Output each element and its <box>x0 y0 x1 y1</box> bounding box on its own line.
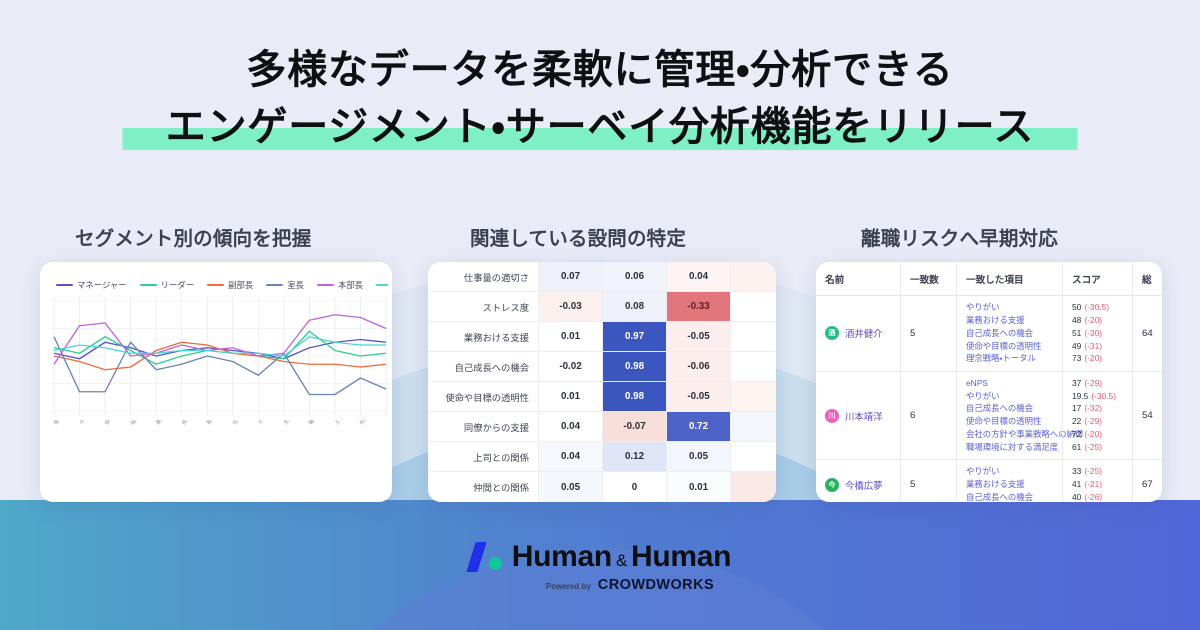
heatmap-grid: 仕事量の適切さ0.070.060.04ストレス度-0.030.08-0.33業務… <box>428 262 776 502</box>
score-entry: 49(-31) <box>1072 341 1123 352</box>
heatmap-cell[interactable]: 0.06 <box>602 262 666 292</box>
score-delta: (-30.5) <box>1091 391 1116 401</box>
heatmap-cell[interactable]: 0.01 <box>538 322 602 352</box>
heatmap-cell[interactable]: -0.06 <box>666 352 730 382</box>
heatmap-row: 使命や目標の透明性0.010.98-0.05 <box>428 382 776 412</box>
score-entry: 41(-21) <box>1072 479 1123 490</box>
chart-xlabel-7: 仕事量の適切さ (点・平均) <box>231 420 273 426</box>
powered-by-label: Powered by <box>546 582 591 591</box>
risk-cell-match-count: 6 <box>900 372 956 460</box>
line-chart: マネージャーリーダー副部長室長本部長部長 理念戦略・トータル (点・平均)やりが… <box>40 262 392 502</box>
chart-series-5 <box>54 337 386 356</box>
score-delta: (-30.5) <box>1084 302 1109 312</box>
logo-dot-shape <box>489 557 502 570</box>
heatmap-row-label: ストレス度 <box>428 292 538 322</box>
heatmap-cell[interactable]: 0.04 <box>538 412 602 442</box>
matched-item[interactable]: 自己成長への機会 <box>966 492 1053 502</box>
heatmap-cell-truncated[interactable] <box>730 262 776 292</box>
risk-table-body: 酒酒井健介5やりがい業務おける支援自己成長への機会使命や目標の透明性理念戦略・ト… <box>816 296 1162 502</box>
avatar: 今 <box>825 478 839 492</box>
matched-item[interactable]: 理念戦略・トータル <box>966 353 1053 364</box>
risk-cell-items: eNPSやりがい自己成長への機会使命や目標の透明性会社の方針や事業戦略への納得職… <box>956 372 1062 460</box>
chart-x-axis-labels: 理念戦略・トータル (点・平均)やりがい (点・平均)自己成長の機会 (点・平均… <box>50 420 382 478</box>
score-value: 49 <box>1072 341 1081 351</box>
score-entry: 33(-25) <box>1072 466 1123 477</box>
heatmap-row-label: 仲間との関係 <box>428 472 538 502</box>
matched-item[interactable]: やりがい <box>966 302 1053 313</box>
score-entry: 48(-20) <box>1072 315 1123 326</box>
legend-item-5[interactable]: 部長 <box>376 279 388 291</box>
title-line-2: エンゲージメント・サーベイ分析機能をリリース <box>0 99 1200 156</box>
heatmap-cell[interactable]: -0.07 <box>602 412 666 442</box>
heatmap-cell[interactable]: 0.05 <box>666 442 730 472</box>
title-line-2-text: エンゲージメント・サーベイ分析機能をリリース <box>166 105 1034 149</box>
heatmap-row: ストレス度-0.030.08-0.33 <box>428 292 776 322</box>
heatmap-cell[interactable]: 0.04 <box>666 262 730 292</box>
heatmap-row: 仕事量の適切さ0.070.060.04 <box>428 262 776 292</box>
risk-cell-items: やりがい業務おける支援自己成長への機会使命や目標の透明性理念戦略・トータル <box>956 296 1062 371</box>
avatar: 川 <box>825 409 839 423</box>
heatmap-cell-truncated[interactable] <box>730 292 776 322</box>
heatmap-row: 同僚からの支援0.04-0.070.72 <box>428 412 776 442</box>
risk-table-col-0: 名前 <box>816 262 900 295</box>
legend-label-4: 本部長 <box>338 279 363 291</box>
heatmap-cell-truncated[interactable] <box>730 442 776 472</box>
legend-swatch-2 <box>207 284 224 286</box>
heatmap-cell-truncated[interactable] <box>730 322 776 352</box>
heatmap-cell[interactable]: 0.97 <box>602 322 666 352</box>
risk-cell-match-count: 5 <box>900 296 956 371</box>
score-value: 72 <box>1072 429 1081 439</box>
heatmap-cell-truncated[interactable] <box>730 472 776 502</box>
score-entry: 22(-29) <box>1072 416 1123 427</box>
chart-plot-area <box>50 297 382 420</box>
risk-cell-name: 川川本靖洋 <box>816 372 900 460</box>
heatmap-cell-truncated[interactable] <box>730 352 776 382</box>
risk-cell-match-count: 5 <box>900 460 956 502</box>
score-entry: 50(-30.5) <box>1072 302 1123 313</box>
risk-table-col-4: 総 <box>1132 262 1162 295</box>
chart-series-4 <box>54 315 386 365</box>
legend-item-0[interactable]: マネージャー <box>56 279 127 291</box>
score-delta: (-26) <box>1084 492 1102 502</box>
heatmap-cell[interactable]: -0.02 <box>538 352 602 382</box>
legend-swatch-1 <box>140 284 157 286</box>
heatmap-cell[interactable]: 0.98 <box>602 382 666 412</box>
legend-label-3: 室長 <box>287 279 304 291</box>
logo-name-part1: Human <box>512 540 612 573</box>
logo-wordmark: Human&Human <box>512 540 731 574</box>
matched-item[interactable]: 職場環境に対する満足度 <box>966 442 1053 453</box>
risk-cell-scores: 37(-29)19.5(-30.5)17(-32)22(-29)72(-20)6… <box>1062 372 1132 460</box>
score-delta: (-29) <box>1084 378 1102 388</box>
risk-table-col-1: 一致数 <box>900 262 956 295</box>
score-entry: 51(-30) <box>1072 328 1123 339</box>
score-delta: (-31) <box>1084 341 1102 351</box>
heatmap-cell-truncated[interactable] <box>730 382 776 412</box>
legend-label-0: マネージャー <box>77 279 127 291</box>
score-value: 48 <box>1072 315 1081 325</box>
score-entry: 40(-26) <box>1072 492 1123 502</box>
logo-slash-dot-icon <box>469 542 503 572</box>
score-value: 40 <box>1072 492 1081 502</box>
score-value: 19.5 <box>1072 391 1088 401</box>
score-delta: (-30) <box>1084 328 1102 338</box>
heatmap-cell-truncated[interactable] <box>730 412 776 442</box>
card-correlation-heatmap: 仕事量の適切さ0.070.060.04ストレス度-0.030.08-0.33業務… <box>428 262 776 502</box>
score-entry: 17(-32) <box>1072 403 1123 414</box>
score-delta: (-20) <box>1084 315 1102 325</box>
score-delta: (-20) <box>1084 353 1102 363</box>
chart-xlabel-4: 連成感 (点・平均) <box>154 420 183 426</box>
risk-cell-name: 酒酒井健介 <box>816 296 900 371</box>
logo-lockup: Human&Human <box>469 540 731 574</box>
chart-legend: マネージャーリーダー副部長室長本部長部長 <box>44 270 388 297</box>
score-value: 51 <box>1072 328 1081 338</box>
brand-logo: Human&Human Powered by CROWDWORKS <box>0 540 1200 593</box>
score-value: 17 <box>1072 403 1081 413</box>
logo-ampersand: & <box>616 551 627 570</box>
heatmap-row-label: 自己成長への機会 <box>428 352 538 382</box>
legend-swatch-4 <box>317 284 334 286</box>
score-entry: 72(-20) <box>1072 429 1123 440</box>
matched-item[interactable]: 業務おける支援 <box>966 315 1053 326</box>
heatmap-cell[interactable]: 0.12 <box>602 442 666 472</box>
poster-canvas: 多様なデータを柔軟に管理・分析できる エンゲージメント・サーベイ分析機能をリリー… <box>0 0 1200 630</box>
matched-item[interactable]: 使命や目標の透明性 <box>966 341 1053 352</box>
table-row[interactable]: 酒酒井健介5やりがい業務おける支援自己成長への機会使命や目標の透明性理念戦略・ト… <box>816 296 1162 372</box>
heading-correlation: 関連している設問の特定 <box>470 222 686 251</box>
matched-item[interactable]: 自己成長への機会 <box>966 328 1053 339</box>
heatmap-cell[interactable]: -0.05 <box>666 382 730 412</box>
legend-swatch-3 <box>266 284 283 286</box>
heatmap-row-label: 仕事量の適切さ <box>428 262 538 292</box>
page-title: 多様なデータを柔軟に管理・分析できる エンゲージメント・サーベイ分析機能をリリー… <box>0 42 1200 156</box>
heatmap-row-label: 使命や目標の透明性 <box>428 382 538 412</box>
heatmap-row: 仲間との関係0.0500.01 <box>428 472 776 502</box>
score-entry: 37(-29) <box>1072 378 1123 389</box>
crowdworks-wordmark: CROWDWORKS <box>598 577 714 593</box>
heatmap-cell[interactable]: -0.03 <box>538 292 602 322</box>
risk-cell-total-truncated: 64 <box>1132 296 1162 371</box>
heatmap-row: 自己成長への機会-0.020.98-0.06 <box>428 352 776 382</box>
legend-item-1[interactable]: リーダー <box>140 279 195 291</box>
score-delta: (-20) <box>1084 429 1102 439</box>
legend-swatch-0 <box>56 284 73 286</box>
person-name[interactable]: 酒井健介 <box>845 326 883 340</box>
logo-slash-shape <box>466 542 486 572</box>
risk-cell-scores: 50(-30.5)48(-20)51(-30)49(-31)73(-20) <box>1062 296 1132 371</box>
heatmap-row-label: 業務おける支援 <box>428 322 538 352</box>
person-name[interactable]: 今橋広夢 <box>845 478 883 492</box>
score-delta: (-25) <box>1084 442 1102 452</box>
heatmap-cell[interactable]: 0.01 <box>666 472 730 502</box>
matched-item[interactable]: eNPS <box>966 378 1053 389</box>
chart-series-3 <box>54 337 386 395</box>
heatmap-cell[interactable]: 0.72 <box>666 412 730 442</box>
score-value: 41 <box>1072 479 1081 489</box>
score-entry: 19.5(-30.5) <box>1072 391 1123 402</box>
risk-cell-total-truncated: 54 <box>1132 372 1162 460</box>
score-value: 22 <box>1072 416 1081 426</box>
heatmap-cell[interactable]: 0.08 <box>602 292 666 322</box>
legend-label-1: リーダー <box>161 279 195 291</box>
chart-xlabel-12: 仲間との関係 (点・平均) <box>358 420 382 426</box>
matched-item[interactable]: 自己成長への機会 <box>966 403 1053 414</box>
matched-item[interactable]: やりがい <box>966 391 1053 402</box>
card-attrition-risk: 名前一致数一致した項目スコア総 酒酒井健介5やりがい業務おける支援自己成長への機… <box>816 262 1162 502</box>
risk-table-col-2: 一致した項目 <box>956 262 1062 295</box>
score-delta: (-29) <box>1084 416 1102 426</box>
matched-item[interactable]: 業務おける支援 <box>966 479 1053 490</box>
legend-item-4[interactable]: 本部長 <box>317 279 363 291</box>
heatmap-cell[interactable]: -0.05 <box>666 322 730 352</box>
score-value: 37 <box>1072 378 1081 388</box>
heading-segment: セグメント別の傾向を把握 <box>75 222 311 251</box>
legend-item-3[interactable]: 室長 <box>266 279 304 291</box>
score-entry: 73(-20) <box>1072 353 1123 364</box>
avatar: 酒 <box>825 326 839 340</box>
score-delta: (-25) <box>1084 466 1102 476</box>
score-entry: 61(-25) <box>1072 442 1123 453</box>
heatmap-row-label: 上司との関係 <box>428 442 538 472</box>
heatmap-cell[interactable]: -0.33 <box>666 292 730 322</box>
heatmap-row-label: 同僚からの支援 <box>428 412 538 442</box>
heatmap-cell[interactable]: 0.04 <box>538 442 602 472</box>
score-value: 33 <box>1072 466 1081 476</box>
score-value: 61 <box>1072 442 1081 452</box>
table-row[interactable]: 川川本靖洋6eNPSやりがい自己成長への機会使命や目標の透明性会社の方針や事業戦… <box>816 372 1162 461</box>
risk-cell-total-truncated: 67 <box>1132 460 1162 502</box>
legend-item-2[interactable]: 副部長 <box>207 279 253 291</box>
title-line-1: 多様なデータを柔軟に管理・分析できる <box>0 42 1200 99</box>
table-row[interactable]: 今今橋広夢5やりがい業務おける支援自己成長への機会33(-25)41(-21)4… <box>816 460 1162 502</box>
risk-cell-items: やりがい業務おける支援自己成長への機会 <box>956 460 1062 502</box>
heatmap-row: 業務おける支援0.010.97-0.05 <box>428 322 776 352</box>
heatmap-cell[interactable]: 0.98 <box>602 352 666 382</box>
score-value: 50 <box>1072 302 1081 312</box>
heatmap-row: 上司との関係0.040.120.05 <box>428 442 776 472</box>
card-segment-trend: マネージャーリーダー副部長室長本部長部長 理念戦略・トータル (点・平均)やりが… <box>40 262 392 502</box>
heatmap-cell[interactable]: 0 <box>602 472 666 502</box>
legend-label-2: 副部長 <box>228 279 253 291</box>
risk-cell-name: 今今橋広夢 <box>816 460 900 502</box>
risk-cell-scores: 33(-25)41(-21)40(-26) <box>1062 460 1132 502</box>
score-value: 73 <box>1072 353 1081 363</box>
score-delta: (-32) <box>1084 403 1102 413</box>
chart-svg <box>50 297 390 415</box>
heading-risk: 離職リスクへ早期対応 <box>861 222 1058 251</box>
matched-item[interactable]: 使命や目標の透明性 <box>966 416 1053 427</box>
title-line-1-text: 多様なデータを柔軟に管理・分析できる <box>246 48 953 92</box>
matched-item[interactable]: 会社の方針や事業戦略への納得 <box>966 429 1053 440</box>
logo-powered-by: Powered by CROWDWORKS <box>546 577 714 593</box>
legend-swatch-5 <box>376 284 388 286</box>
risk-table-col-3: スコア <box>1062 262 1132 295</box>
heatmap-cell[interactable]: 0.07 <box>538 262 602 292</box>
matched-item[interactable]: やりがい <box>966 466 1053 477</box>
risk-table: 名前一致数一致した項目スコア総 酒酒井健介5やりがい業務おける支援自己成長への機… <box>816 262 1162 502</box>
logo-name-part2: Human <box>631 540 731 573</box>
person-name[interactable]: 川本靖洋 <box>845 409 883 423</box>
risk-table-header: 名前一致数一致した項目スコア総 <box>816 262 1162 296</box>
score-delta: (-21) <box>1084 479 1102 489</box>
heatmap-cell[interactable]: 0.05 <box>538 472 602 502</box>
chart-xlabel-0: 理念戦略・トータル (点・平均) <box>52 420 98 426</box>
heatmap-cell[interactable]: 0.01 <box>538 382 602 412</box>
